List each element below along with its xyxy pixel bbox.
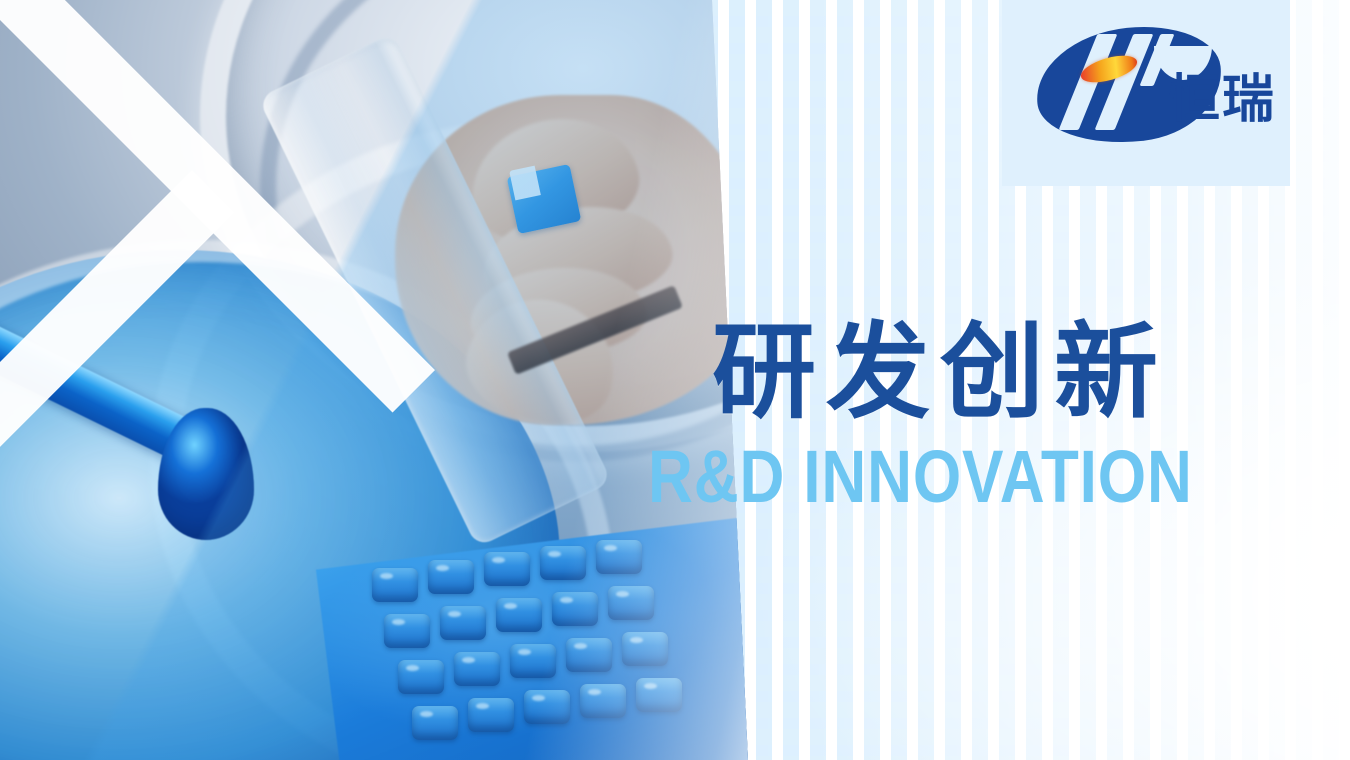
vial-cap-icon xyxy=(468,698,514,732)
vial-cap-icon xyxy=(580,684,626,718)
vial-cap-icon xyxy=(454,652,500,686)
vial-cap-icon xyxy=(398,660,444,694)
page-title-cn: 研发创新 xyxy=(712,318,1312,426)
headline-block: 研发创新 R&D INNOVATION xyxy=(712,318,1312,514)
vial-cap-icon xyxy=(440,606,486,640)
page-subtitle-en: R&D INNOVATION xyxy=(648,440,1206,514)
vial-cap-icon xyxy=(384,614,430,648)
vial-cap-icon xyxy=(372,568,418,602)
vial-cap-icon xyxy=(566,638,612,672)
vial-cap-icon xyxy=(596,540,642,574)
hengrui-logo: 恒瑞 xyxy=(1036,22,1260,148)
logo-wordmark: 恒瑞 xyxy=(1168,74,1276,126)
vial-cap-icon xyxy=(496,598,542,632)
vial-cap-icon xyxy=(622,632,668,666)
vial-cap-icon xyxy=(552,592,598,626)
logo-plate: 恒瑞 xyxy=(1002,0,1290,186)
vial-cap-icon xyxy=(608,586,654,620)
vial-cap-icon xyxy=(636,678,682,712)
vial-cap-icon xyxy=(510,644,556,678)
vial-cap-icon xyxy=(428,560,474,594)
vial-cap-icon xyxy=(484,552,530,586)
vial-cap-icon xyxy=(412,706,458,740)
rd-innovation-banner: 恒瑞 研发创新 R&D INNOVATION xyxy=(0,0,1350,760)
vial-cap-icon xyxy=(540,546,586,580)
vial-cap-icon xyxy=(524,690,570,724)
photo-collage xyxy=(0,0,790,760)
